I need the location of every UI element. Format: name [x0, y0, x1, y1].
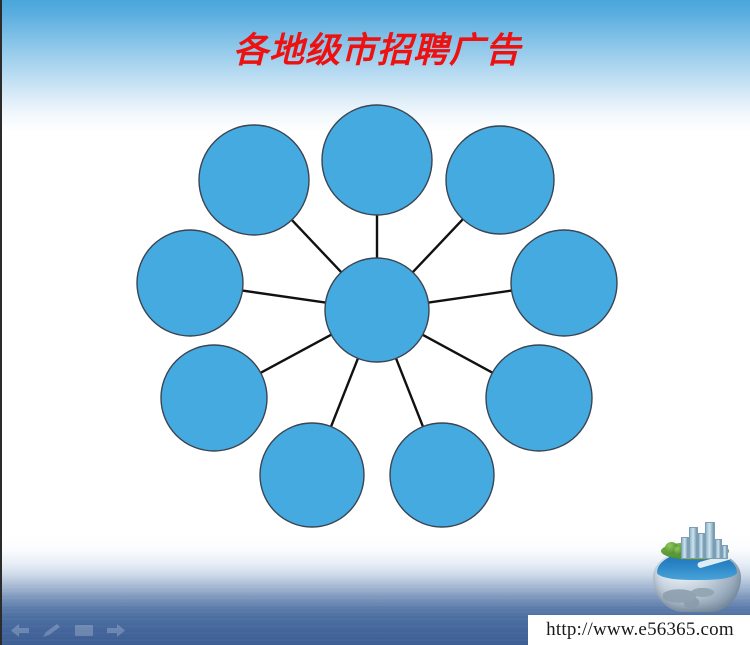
slideshow-forward-button[interactable]: [106, 623, 126, 638]
hub-and-spoke-diagram: [2, 0, 750, 645]
slideshow-controls[interactable]: [10, 623, 126, 638]
connector-node-top-left: [292, 220, 341, 272]
connector-node-left: [242, 291, 325, 303]
building-icon: [689, 527, 698, 559]
connector-node-bottom-left-low: [331, 358, 358, 426]
connector-node-right: [428, 291, 511, 303]
building-icon: [722, 545, 728, 559]
building-icon: [698, 533, 705, 559]
slideshow-pen-button[interactable]: [42, 623, 62, 638]
building-icon: [715, 539, 722, 559]
center-node[interactable]: [325, 258, 429, 362]
node-bottom-right[interactable]: [486, 345, 592, 451]
presentation-slide: 各地级市招聘广告 http://www.e56365.com: [0, 0, 750, 645]
connector-node-bottom-right: [423, 335, 493, 373]
node-top-right[interactable]: [446, 126, 554, 234]
connector-node-top-right: [413, 219, 463, 272]
node-left[interactable]: [137, 230, 243, 336]
globe-city-logo: [647, 520, 747, 615]
building-icon: [705, 522, 715, 559]
node-top[interactable]: [322, 105, 432, 215]
node-top-left[interactable]: [199, 125, 309, 235]
globe-continents: [663, 578, 725, 608]
slideshow-menu-button[interactable]: [74, 623, 94, 638]
slideshow-back-button[interactable]: [10, 623, 30, 638]
connector-node-bottom-right-low: [396, 358, 423, 426]
node-bottom-left-low[interactable]: [260, 423, 364, 527]
node-bottom-right-low[interactable]: [390, 423, 494, 527]
building-icon: [681, 537, 689, 559]
node-right[interactable]: [511, 230, 617, 336]
watermark-url: http://www.e56365.com: [528, 615, 750, 645]
node-bottom-left[interactable]: [161, 345, 267, 451]
connector-node-bottom-left: [261, 335, 332, 373]
circle-nodes: [137, 105, 617, 527]
globe-sphere: [653, 552, 741, 612]
